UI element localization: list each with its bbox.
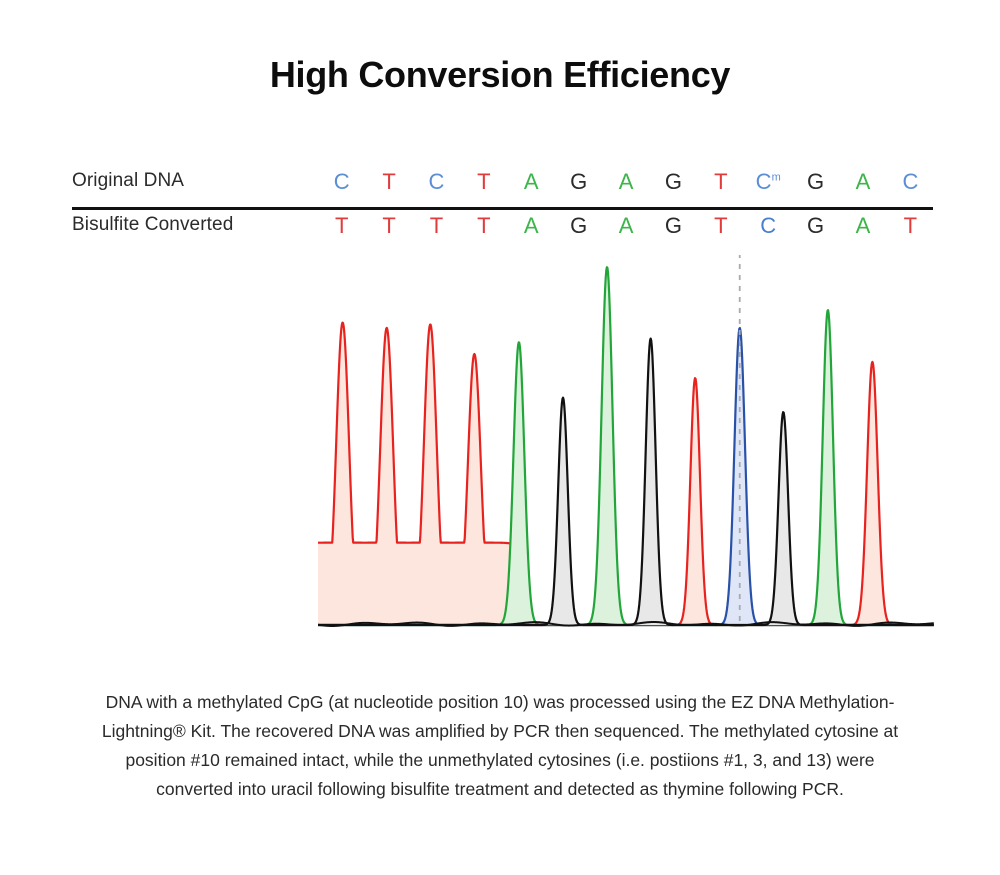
original-base-6: G	[555, 168, 602, 198]
trace-fill-T	[318, 323, 934, 625]
converted-base-2: T	[365, 212, 412, 242]
original-base-11: G	[792, 168, 839, 198]
original-base-7: A	[602, 168, 649, 198]
converted-base-12: A	[839, 212, 886, 242]
original-base-2: T	[365, 168, 412, 198]
converted-base-8: G	[650, 212, 697, 242]
original-base-8: G	[650, 168, 697, 198]
original-base-10: Cm	[745, 168, 792, 198]
original-base-3: C	[413, 168, 460, 198]
original-dna-sequence: CTCTAGAGTCmGAC	[318, 168, 934, 198]
original-base-4: T	[460, 168, 507, 198]
original-dna-label: Original DNA	[72, 168, 184, 194]
figure-caption: DNA with a methylated CpG (at nucleotide…	[88, 688, 912, 804]
original-base-9: T	[697, 168, 744, 198]
sequence-divider	[72, 207, 933, 210]
bisulfite-converted-sequence: TTTTAGAGTCGAT	[318, 212, 934, 242]
sequence-panel: Original DNA CTCTAGAGTCmGAC Bisulfite Co…	[0, 168, 1000, 250]
converted-base-10: C	[745, 212, 792, 242]
converted-base-7: A	[602, 212, 649, 242]
bisulfite-converted-label: Bisulfite Converted	[72, 212, 233, 238]
converted-base-5: A	[508, 212, 555, 242]
converted-base-1: T	[318, 212, 365, 242]
converted-base-13: T	[887, 212, 934, 242]
page-title: High Conversion Efficiency	[0, 53, 1000, 96]
original-base-13: C	[887, 168, 934, 198]
methyl-superscript: m	[772, 172, 781, 184]
bisulfite-converted-row: Bisulfite Converted TTTTAGAGTCGAT	[0, 212, 1000, 248]
original-dna-row: Original DNA CTCTAGAGTCmGAC	[0, 168, 1000, 204]
figure-container: High Conversion Efficiency Original DNA …	[0, 0, 1000, 875]
chromatogram-svg	[318, 255, 934, 633]
chromatogram-trace	[318, 255, 934, 633]
converted-base-3: T	[413, 212, 460, 242]
converted-base-6: G	[555, 212, 602, 242]
original-base-5: A	[508, 168, 555, 198]
converted-base-4: T	[460, 212, 507, 242]
original-base-1: C	[318, 168, 365, 198]
original-base-12: A	[839, 168, 886, 198]
converted-base-9: T	[697, 212, 744, 242]
converted-base-11: G	[792, 212, 839, 242]
